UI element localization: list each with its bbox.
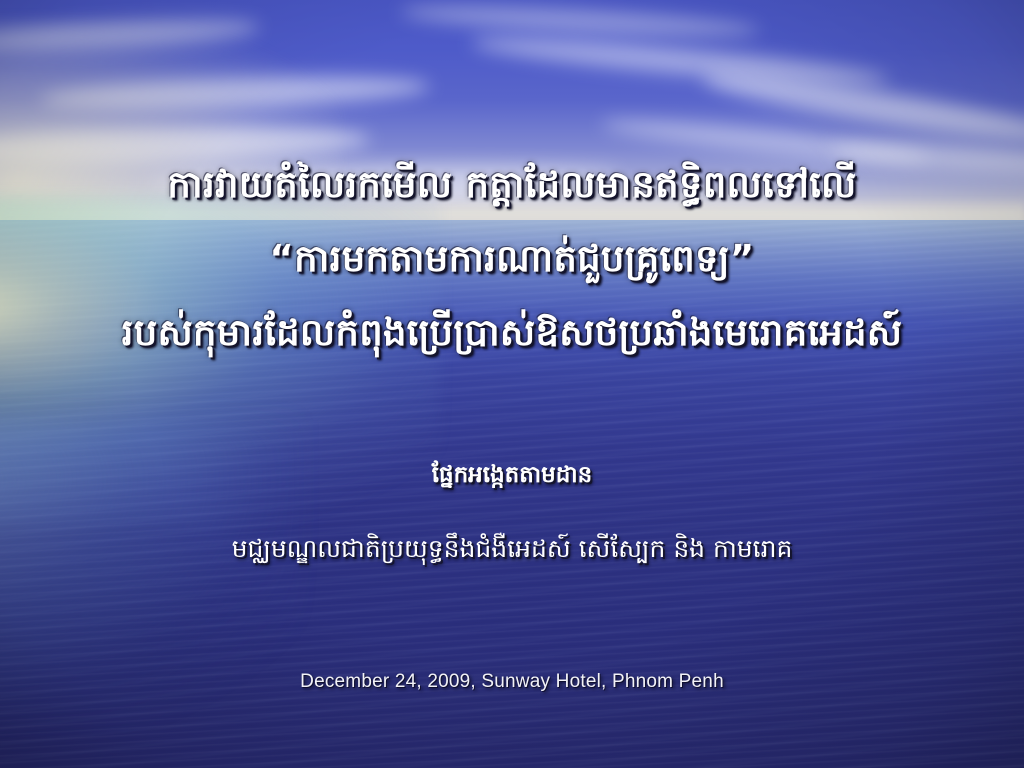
title-line-1: ការវាយតំលៃរកមើល កត្តាដែលមានឥទ្ធិពលទៅលើ [0,148,1024,222]
subtitle-organization: មជ្ឈមណ្ឌលជាតិប្រយុទ្ធនឹងជំងឺអេដស៍ សើស្បែ… [0,530,1024,568]
subtitle-department: ផ្នែកអង្កេតតាមដាន [0,458,1024,492]
slide-content: ការវាយតំលៃរកមើល កត្តាដែលមានឥទ្ធិពលទៅលើ “… [0,0,1024,768]
title-line-3: របស់កុមារដែលកំពុងប្រើប្រាស់ឱសថប្រឆាំងមេរ… [0,296,1024,370]
title-line-2: “ការមកតាមការណាត់ជួបគ្រូពេទ្យ” [0,222,1024,296]
slide-subtitle: ផ្នែកអង្កេតតាមដាន មជ្ឈមណ្ឌលជាតិប្រយុទ្ធន… [0,458,1024,568]
slide-footer-event: December 24, 2009, Sunway Hotel, Phnom P… [0,670,1024,694]
slide-title: ការវាយតំលៃរកមើល កត្តាដែលមានឥទ្ធិពលទៅលើ “… [0,148,1024,370]
presentation-title-slide: ការវាយតំលៃរកមើល កត្តាដែលមានឥទ្ធិពលទៅលើ “… [0,0,1024,768]
